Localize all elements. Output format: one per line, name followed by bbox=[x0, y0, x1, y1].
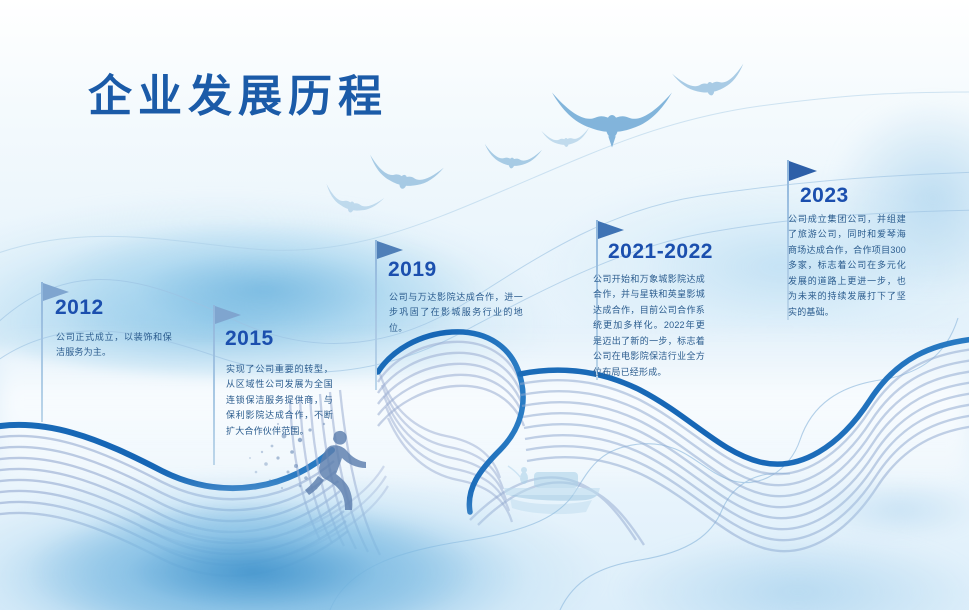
flag-pennant-2023 bbox=[789, 161, 817, 181]
flag-pole-2019 bbox=[375, 240, 377, 390]
milestone-year-2015: 2015 bbox=[225, 327, 274, 351]
flag-pennant-2021-2022 bbox=[598, 221, 624, 239]
milestone-year-2023: 2023 bbox=[800, 184, 849, 208]
infographic-canvas: 企业发展历程 bbox=[0, 0, 969, 610]
milestone-description-2019: 公司与万达影院达成合作，进一步巩固了在影城服务行业的地位。 bbox=[389, 290, 523, 336]
milestone-year-2019: 2019 bbox=[388, 258, 437, 282]
milestone-description-2015: 实现了公司重要的转型，从区域性公司发展为全国连锁保洁服务提供商，与保利影院达成合… bbox=[226, 362, 333, 439]
milestone-year-2012: 2012 bbox=[55, 296, 104, 320]
flag-pole-2012 bbox=[41, 282, 43, 422]
milestone-description-2021-2022: 公司开始和万象城影院达成合作，并与星轶和英皇影城达成合作，目前公司合作系统更加多… bbox=[593, 272, 705, 380]
milestone-description-2012: 公司正式成立，以装饰和保洁服务为主。 bbox=[56, 330, 172, 361]
milestone-year-2021-2022: 2021-2022 bbox=[608, 240, 713, 264]
flag-pennant-2019 bbox=[377, 241, 403, 259]
flag-pennant-2015 bbox=[215, 306, 241, 324]
milestone-description-2023: 公司成立集团公司，并组建了旅游公司，同时和爱琴海商场达成合作，合作项目300多家… bbox=[788, 212, 906, 320]
flag-pole-2015 bbox=[213, 305, 215, 465]
